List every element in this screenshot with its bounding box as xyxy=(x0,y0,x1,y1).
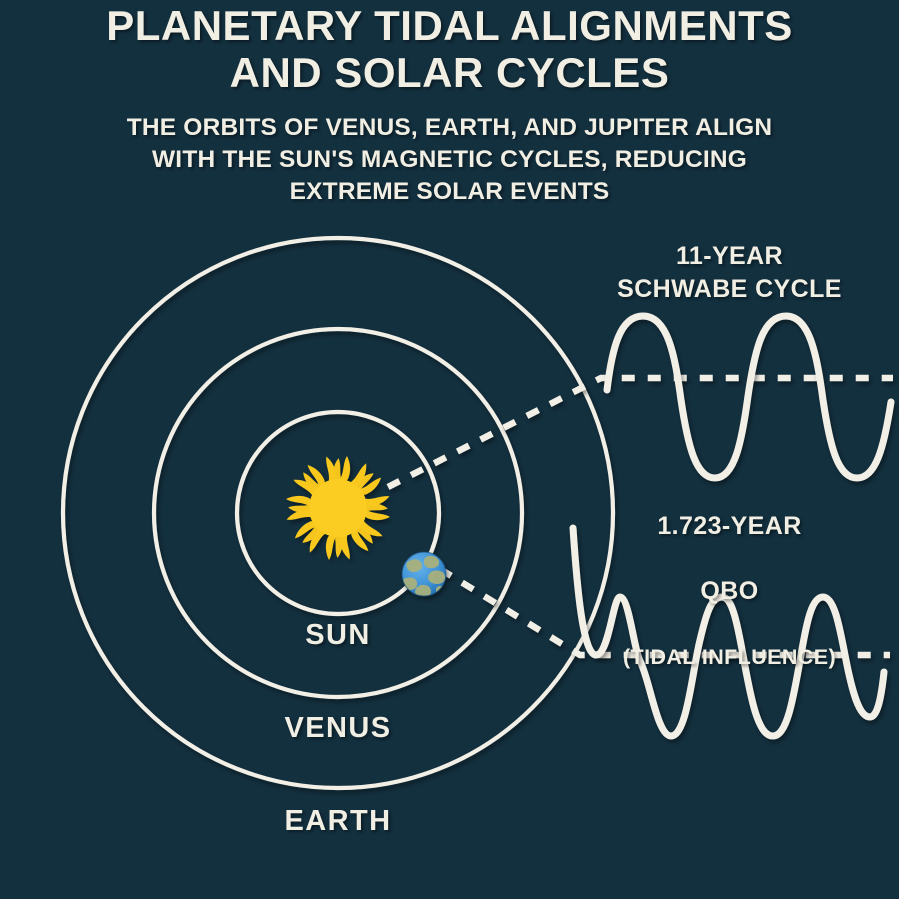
connector-sun-to-schwabe xyxy=(388,378,893,487)
qbo-name-label: QBO xyxy=(700,577,758,605)
qbo-cycle-label: 1.723-YEAR QBO (TIDAL INFLUENCE) xyxy=(560,477,899,672)
schwabe-cycle-label: 11-YEAR SCHWABE CYCLE xyxy=(560,240,899,306)
orbit-label-earth: EARTH xyxy=(238,805,438,839)
schwabe-cycle-wave xyxy=(607,316,891,478)
page-subtitle: THE ORBITS OF VENUS, EARTH, AND JUPITER … xyxy=(0,112,899,208)
earth-icon xyxy=(401,552,447,598)
qbo-note-label: (TIDAL INFLUENCE) xyxy=(623,645,836,669)
infographic-canvas: PLANETARY TIDAL ALIGNMENTS AND SOLAR CYC… xyxy=(0,0,899,899)
orbit-label-sun: SUN xyxy=(238,619,438,653)
orbit-label-venus: VENUS xyxy=(238,712,438,746)
sun-icon xyxy=(285,455,390,560)
page-title: PLANETARY TIDAL ALIGNMENTS AND SOLAR CYC… xyxy=(0,2,899,96)
qbo-period-label: 1.723-YEAR xyxy=(657,512,801,540)
